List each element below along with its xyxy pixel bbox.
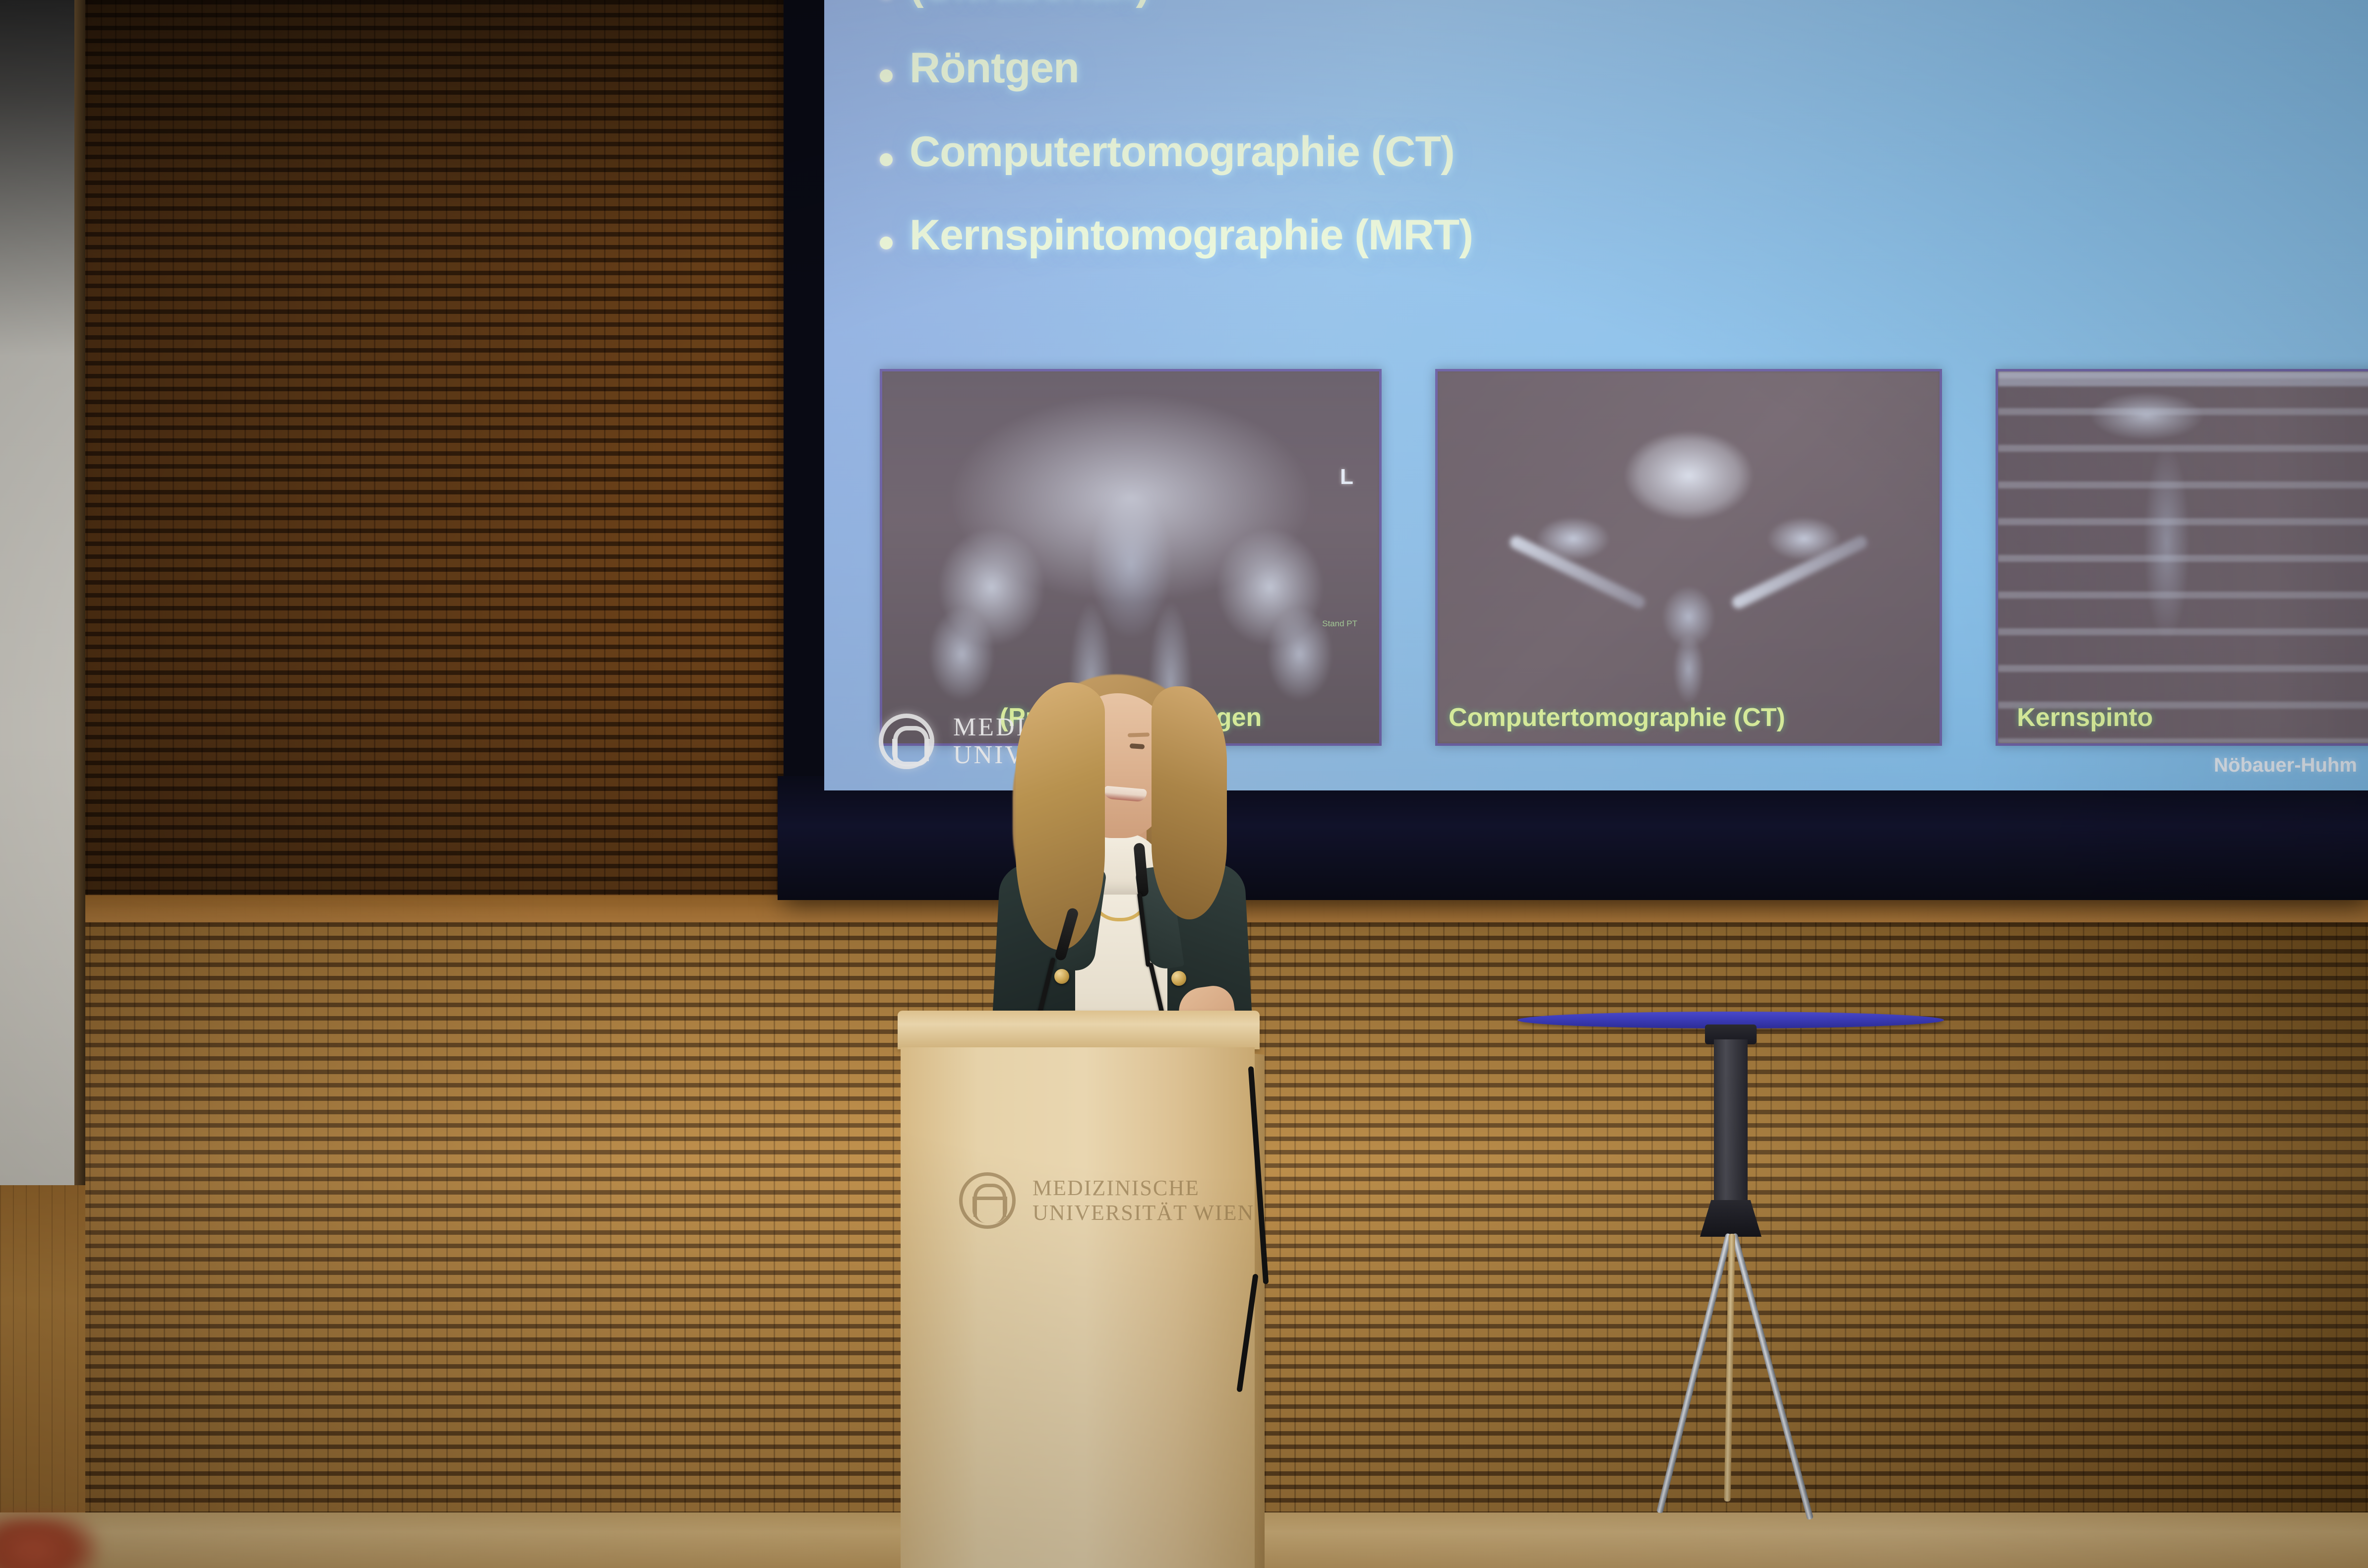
- meduni-monogram-icon: [959, 1172, 1016, 1229]
- mrt-thumbnail: Kernspinto: [1996, 369, 2368, 746]
- bullet-label: Röntgen: [910, 46, 1079, 90]
- bullet-dot-icon: [880, 153, 893, 166]
- bullet-item-ultraschall: (Ultraschall): [824, 0, 2368, 7]
- ct-caption: Computertomographie (CT): [1449, 703, 1785, 732]
- speaker-eye-right: [1130, 743, 1145, 749]
- bullet-dot-icon: [880, 69, 893, 82]
- bullet-item-ct: Computertomographie (CT): [824, 129, 2368, 174]
- lectern-top-surface: [898, 1011, 1260, 1049]
- table-leg: [1731, 1233, 1814, 1520]
- slide-credit-text: Nöbauer-Huhm: [2214, 754, 2357, 777]
- jacket-button: [1054, 969, 1069, 984]
- foreground-blur-object: [0, 1516, 99, 1568]
- mrt-caption: Kernspinto: [2017, 703, 2153, 732]
- lecture-hall-photo: (Ultraschall) Röntgen Computertomographi…: [0, 0, 2368, 1568]
- lectern: MEDIZINISCHEUNIVERSITÄT WIEN: [898, 1011, 1260, 1568]
- table-leg: [1656, 1233, 1732, 1513]
- lectern-logo-line1: MEDIZINISCHE: [1032, 1176, 1200, 1200]
- xray-overlay-tag: Stand PT: [1322, 618, 1357, 629]
- bullet-item-mrt: Kernspintomographie (MRT): [824, 213, 2368, 257]
- vertebra-ct-image: [1438, 371, 1940, 743]
- lectern-logo-wordmark: MEDIZINISCHEUNIVERSITÄT WIEN: [1032, 1176, 1254, 1225]
- speaker-hair-left: [1016, 682, 1105, 950]
- left-panel-edge-trim: [74, 0, 85, 1188]
- table-center-column: [1714, 1039, 1748, 1203]
- table-leg: [1724, 1234, 1735, 1502]
- left-lower-wood-panel: [0, 1185, 85, 1568]
- tripod-side-table: [1518, 1012, 1944, 1522]
- speaker-hair-right: [1152, 686, 1227, 919]
- speaker-eyebrow-right: [1128, 732, 1150, 737]
- bullet-item-roentgen: Röntgen: [824, 46, 2368, 90]
- speaker-figure: [957, 669, 1275, 1036]
- lectern-front-panel: MEDIZINISCHEUNIVERSITÄT WIEN: [901, 1047, 1255, 1568]
- bullet-label: Computertomographie (CT): [910, 129, 1455, 174]
- meduni-monogram-icon: [879, 714, 934, 769]
- jacket-button: [1171, 971, 1186, 986]
- lectern-meduni-logo: MEDIZINISCHEUNIVERSITÄT WIEN: [959, 1172, 1254, 1229]
- xray-side-marker: L: [1340, 465, 1353, 489]
- slide-bullet-list: (Ultraschall) Röntgen Computertomographi…: [824, 0, 2368, 296]
- bullet-label: Kernspintomographie (MRT): [910, 213, 1473, 257]
- spine-mrt-image: [1998, 371, 2368, 743]
- bullet-label: (Ultraschall): [910, 0, 1150, 7]
- left-plaster-panel: [0, 0, 83, 1188]
- ct-thumbnail: Computertomographie (CT): [1435, 369, 1942, 746]
- lectern-logo-line2: UNIVERSITÄT WIEN: [1032, 1201, 1254, 1225]
- table-leg-collar: [1700, 1200, 1761, 1237]
- bullet-dot-icon: [880, 237, 893, 249]
